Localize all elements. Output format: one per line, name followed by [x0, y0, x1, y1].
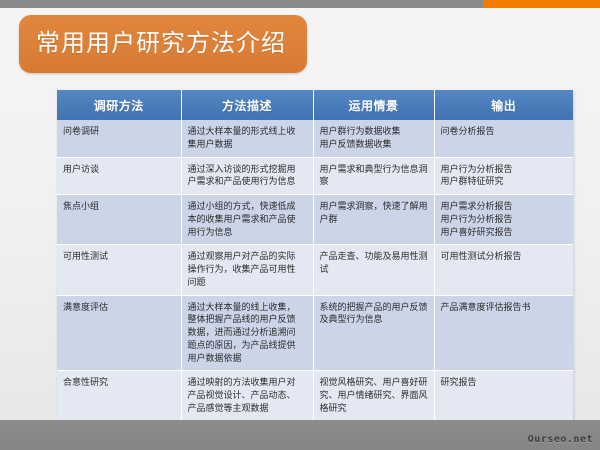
cell-text-line: 视觉风格研究、用户喜好研	[320, 376, 428, 389]
column-header-method: 调研方法	[57, 90, 181, 120]
table-row: 焦点小组通过小组的方式，快速低成本的收集用户需求和产品使用行为信息用户需求洞察，…	[57, 195, 573, 245]
cell-text-line: 可用性测试	[63, 250, 175, 263]
page-title: 常用用户研究方法介绍	[19, 32, 286, 56]
cell-text-line: 整体把握产品线的用户反馈	[188, 313, 307, 326]
cell-description-lines: 通过大样本量的线上收集，整体把握产品线的用户反馈数据，进而通过分析追溯问题点的原…	[188, 301, 307, 365]
cell-scenario: 用户群行为数据收集用户反馈数据收集	[313, 120, 434, 157]
bottom-decorative-bar: Ourseo.net	[0, 420, 600, 450]
table-body: 问卷调研通过大样本量的形式线上收集用户数据用户群行为数据收集用户反馈数据收集问卷…	[57, 120, 573, 446]
cell-text-line: 通过观察用户对产品的实际	[188, 250, 307, 263]
slide-canvas: 常用用户研究方法介绍 调研方法 方法描述 运用情景 输出 问卷调研通过大样本量的…	[0, 0, 600, 450]
cell-text-line: 可用性测试分析报告	[441, 250, 568, 263]
cell-description: 通过深入访谈的形式挖掘用户需求和产品使用行为信息	[181, 157, 313, 195]
cell-text-line: 问题	[188, 276, 307, 289]
cell-text-line: 通过小组的方式，快速低成	[188, 200, 307, 213]
cell-output: 产品满意度评估报告书	[434, 295, 573, 371]
cell-method-lines: 可用性测试	[63, 250, 175, 263]
cell-output-lines: 用户行为分析报告用户群特征研究	[441, 163, 568, 189]
table-row: 合意性研究通过映射的方法收集用户对产品视觉设计、产品动态、产品感觉等主观数据视觉…	[57, 371, 573, 421]
cell-text-line: 用户需求和典型行为信息洞	[320, 163, 428, 176]
cell-text-line: 用户需求洞察，快速了解用	[320, 200, 428, 213]
table-row: 可用性测试通过观察用户对产品的实际操作行为，收集产品可用性问题产品走查、功能及易…	[57, 245, 573, 295]
cell-description: 通过大样本量的线上收集，整体把握产品线的用户反馈数据，进而通过分析追溯问题点的原…	[181, 295, 313, 371]
watermark-label: Ourseo.net	[528, 434, 593, 445]
cell-text-line: 合意性研究	[63, 376, 175, 389]
cell-method: 合意性研究	[57, 371, 181, 421]
table-row: 满意度评估通过大样本量的线上收集，整体把握产品线的用户反馈数据，进而通过分析追溯…	[57, 295, 573, 371]
cell-text-line: 研究报告	[441, 376, 568, 389]
cell-description-lines: 通过小组的方式，快速低成本的收集用户需求和产品使用行为信息	[188, 200, 307, 238]
cell-output: 用户行为分析报告用户群特征研究	[434, 157, 573, 195]
cell-text-line: 集用户数据	[188, 138, 307, 151]
cell-scenario-lines: 系统的把握产品的用户反馈及典型行为信息	[320, 301, 428, 327]
cell-text-line: 问卷分析报告	[441, 125, 568, 138]
cell-method: 用户访谈	[57, 157, 181, 195]
cell-description: 通过映射的方法收集用户对产品视觉设计、产品动态、产品感觉等主观数据	[181, 371, 313, 421]
cell-text-line: 数据，进而通过分析追溯问	[188, 326, 307, 339]
table-header-row: 调研方法 方法描述 运用情景 输出	[57, 90, 573, 120]
cell-text-line: 用户行为分析报告	[441, 213, 568, 226]
table-row: 用户访谈通过深入访谈的形式挖掘用户需求和产品使用行为信息用户需求和典型行为信息洞…	[57, 157, 573, 195]
cell-method-lines: 用户访谈	[63, 163, 175, 176]
cell-text-line: 用户群行为数据收集	[320, 125, 428, 138]
cell-description: 通过观察用户对产品的实际操作行为，收集产品可用性问题	[181, 245, 313, 295]
cell-text-line: 用户喜好研究报告	[441, 226, 568, 239]
cell-method-lines: 焦点小组	[63, 200, 175, 213]
cell-output-lines: 问卷分析报告	[441, 125, 568, 138]
cell-description-lines: 通过映射的方法收集用户对产品视觉设计、产品动态、产品感觉等主观数据	[188, 376, 307, 414]
cell-text-line: 通过深入访谈的形式挖掘用	[188, 163, 307, 176]
cell-scenario: 系统的把握产品的用户反馈及典型行为信息	[313, 295, 434, 371]
cell-text-line: 问卷调研	[63, 125, 175, 138]
slide-title-pill: 常用用户研究方法介绍	[19, 15, 307, 73]
column-header-output: 输出	[434, 90, 573, 120]
cell-text-line: 通过大样本量的线上收集，	[188, 301, 307, 314]
cell-text-line: 用户需求分析报告	[441, 200, 568, 213]
top-accent-bar	[483, 0, 600, 8]
research-methods-table-wrapper: 调研方法 方法描述 运用情景 输出 问卷调研通过大样本量的形式线上收集用户数据用…	[57, 90, 573, 447]
cell-text-line: 用户行为分析报告	[441, 163, 568, 176]
cell-output-lines: 可用性测试分析报告	[441, 250, 568, 263]
cell-text-line: 试	[320, 263, 428, 276]
cell-method: 满意度评估	[57, 295, 181, 371]
cell-text-line: 满意度评估	[63, 301, 175, 314]
cell-description: 通过小组的方式，快速低成本的收集用户需求和产品使用行为信息	[181, 195, 313, 245]
column-header-scenario: 运用情景	[313, 90, 434, 120]
cell-text-line: 通过大样本量的形式线上收	[188, 125, 307, 138]
cell-method: 焦点小组	[57, 195, 181, 245]
cell-text-line: 本的收集用户需求和产品使	[188, 213, 307, 226]
cell-text-line: 用户访谈	[63, 163, 175, 176]
cell-method-lines: 满意度评估	[63, 301, 175, 314]
cell-scenario-lines: 产品走查、功能及易用性测试	[320, 250, 428, 276]
cell-scenario: 用户需求和典型行为信息洞察	[313, 157, 434, 195]
cell-text-line: 产品走查、功能及易用性测	[320, 250, 428, 263]
table-header: 调研方法 方法描述 运用情景 输出	[57, 90, 573, 120]
research-methods-table: 调研方法 方法描述 运用情景 输出 问卷调研通过大样本量的形式线上收集用户数据用…	[57, 90, 573, 447]
cell-scenario-lines: 用户需求和典型行为信息洞察	[320, 163, 428, 189]
cell-text-line: 用行为信息	[188, 226, 307, 239]
cell-description-lines: 通过观察用户对产品的实际操作行为，收集产品可用性问题	[188, 250, 307, 288]
cell-text-line: 题点的原因，为产品线提供	[188, 339, 307, 352]
cell-output: 用户需求分析报告用户行为分析报告用户喜好研究报告	[434, 195, 573, 245]
cell-text-line: 究、用户情绪研究、界面风	[320, 389, 428, 402]
cell-text-line: 焦点小组	[63, 200, 175, 213]
cell-text-line: 户群	[320, 213, 428, 226]
cell-output: 问卷分析报告	[434, 120, 573, 157]
cell-scenario: 产品走查、功能及易用性测试	[313, 245, 434, 295]
cell-output-lines: 产品满意度评估报告书	[441, 301, 568, 314]
cell-scenario: 视觉风格研究、用户喜好研究、用户情绪研究、界面风格研究	[313, 371, 434, 421]
cell-method-lines: 合意性研究	[63, 376, 175, 389]
cell-text-line: 格研究	[320, 402, 428, 415]
cell-text-line: 用户反馈数据收集	[320, 138, 428, 151]
cell-scenario-lines: 用户群行为数据收集用户反馈数据收集	[320, 125, 428, 151]
column-header-description: 方法描述	[181, 90, 313, 120]
cell-scenario-lines: 视觉风格研究、用户喜好研究、用户情绪研究、界面风格研究	[320, 376, 428, 414]
cell-text-line: 产品视觉设计、产品动态、	[188, 389, 307, 402]
cell-text-line: 用户群特征研究	[441, 175, 568, 188]
cell-method: 问卷调研	[57, 120, 181, 157]
cell-text-line: 通过映射的方法收集用户对	[188, 376, 307, 389]
cell-text-line: 产品感觉等主观数据	[188, 402, 307, 415]
cell-output: 可用性测试分析报告	[434, 245, 573, 295]
cell-scenario-lines: 用户需求洞察，快速了解用户群	[320, 200, 428, 226]
cell-output-lines: 用户需求分析报告用户行为分析报告用户喜好研究报告	[441, 200, 568, 238]
cell-text-line: 及典型行为信息	[320, 313, 428, 326]
cell-method: 可用性测试	[57, 245, 181, 295]
cell-text-line: 操作行为，收集产品可用性	[188, 263, 307, 276]
cell-text-line: 系统的把握产品的用户反馈	[320, 301, 428, 314]
cell-text-line: 户需求和产品使用行为信息	[188, 175, 307, 188]
table-row: 问卷调研通过大样本量的形式线上收集用户数据用户群行为数据收集用户反馈数据收集问卷…	[57, 120, 573, 157]
cell-text-line: 用户数据依据	[188, 352, 307, 365]
cell-text-line: 产品满意度评估报告书	[441, 301, 568, 314]
cell-text-line: 察	[320, 175, 428, 188]
cell-output-lines: 研究报告	[441, 376, 568, 389]
cell-method-lines: 问卷调研	[63, 125, 175, 138]
cell-description-lines: 通过深入访谈的形式挖掘用户需求和产品使用行为信息	[188, 163, 307, 189]
cell-scenario: 用户需求洞察，快速了解用户群	[313, 195, 434, 245]
cell-description-lines: 通过大样本量的形式线上收集用户数据	[188, 125, 307, 151]
cell-description: 通过大样本量的形式线上收集用户数据	[181, 120, 313, 157]
cell-output: 研究报告	[434, 371, 573, 421]
